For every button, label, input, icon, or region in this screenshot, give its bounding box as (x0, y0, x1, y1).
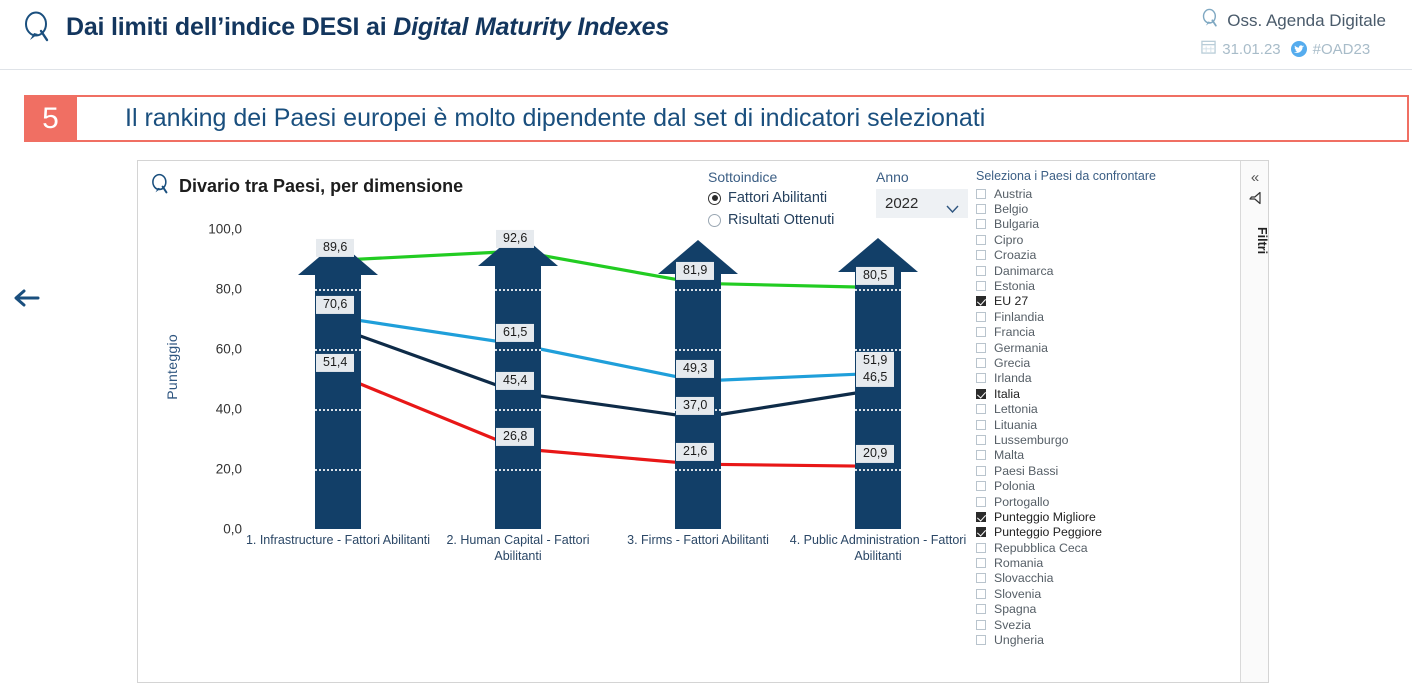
radio-button-icon[interactable] (708, 214, 721, 227)
country-label: Croazia (994, 248, 1036, 262)
checkbox-icon[interactable] (976, 620, 986, 630)
subindex-radio-group: Fattori AbilitantiRisultati Ottenuti (708, 188, 868, 230)
page-title-main: Dai limiti dell’indice DESI ai (66, 13, 393, 41)
country-label: Danimarca (994, 264, 1053, 278)
country-label: Punteggio Peggiore (994, 525, 1102, 539)
chevron-down-icon (946, 200, 959, 208)
column-gridline (495, 349, 541, 351)
page-title-italic: Digital Maturity Indexes (393, 13, 669, 41)
country-label: Italia (994, 387, 1020, 401)
column-gridline (855, 409, 901, 411)
magnifier-speech-icon (150, 173, 170, 200)
dashboard-body: Divario tra Paesi, per dimensione Sottoi… (138, 161, 1242, 682)
checkbox-icon[interactable] (976, 589, 986, 599)
x-axis-category-label: 4. Public Administration - Fattori Abili… (783, 533, 973, 564)
country-label: Estonia (994, 279, 1035, 293)
country-checkbox-item[interactable]: Slovacchia (976, 571, 1206, 586)
chart-plot: Punteggio 0,020,040,060,080,0100,0 89,69… (138, 229, 968, 549)
country-label: Spagna (994, 602, 1036, 616)
checkbox-icon[interactable] (976, 497, 986, 507)
data-value-label: 20,9 (856, 445, 894, 463)
country-label: Finlandia (994, 310, 1044, 324)
country-checkbox-item[interactable]: Spagna (976, 602, 1206, 617)
country-checkbox-item[interactable]: Punteggio Peggiore (976, 525, 1206, 540)
data-value-label: 49,3 (676, 360, 714, 378)
country-label: Germania (994, 341, 1048, 355)
column-gridline (855, 469, 901, 471)
country-label: Slovacchia (994, 571, 1053, 585)
checkbox-icon[interactable] (976, 604, 986, 614)
country-checkbox-item[interactable]: Irlanda (976, 371, 1206, 386)
hashtag-block: #OAD23 (1291, 41, 1371, 58)
checkbox-icon[interactable] (976, 189, 986, 199)
country-checkbox-item[interactable]: Malta (976, 448, 1206, 463)
y-axis-tick: 60,0 (180, 342, 242, 357)
country-label: Lituania (994, 418, 1037, 432)
x-axis-category-label: 1. Infrastructure - Fattori Abilitanti (243, 533, 433, 549)
column-gridline (675, 469, 721, 471)
filter-rail-label[interactable]: Filtri (1241, 211, 1269, 271)
country-label: Austria (994, 187, 1032, 201)
checkbox-icon[interactable] (976, 281, 986, 291)
brand-label: Oss. Agenda Digitale (1227, 11, 1386, 31)
country-checkbox-item[interactable]: Punteggio Migliore (976, 509, 1206, 524)
subindex-radio-label: Risultati Ottenuti (728, 212, 834, 228)
checkbox-icon[interactable] (976, 358, 986, 368)
country-checkbox-item[interactable]: Lussemburgo (976, 432, 1206, 447)
chart-title: Divario tra Paesi, per dimensione (179, 176, 463, 197)
country-checkbox-item[interactable]: Polonia (976, 478, 1206, 493)
hashtag-label: #OAD23 (1313, 41, 1371, 58)
header-right: Oss. Agenda Digitale 31.01.23 (1201, 8, 1386, 59)
column-gridline (495, 289, 541, 291)
calendar-icon (1201, 39, 1216, 59)
section-banner: 5 Il ranking dei Paesi europei è molto d… (24, 95, 1409, 142)
checkbox-icon[interactable] (976, 558, 986, 568)
year-select[interactable]: 2022 (876, 189, 968, 218)
country-checkbox-item[interactable]: Grecia (976, 355, 1206, 370)
subindex-control: Sottoindice Fattori AbilitantiRisultati … (708, 169, 868, 230)
series-line (338, 317, 878, 381)
country-label: Punteggio Migliore (994, 510, 1096, 524)
checkbox-icon[interactable] (976, 404, 986, 414)
checkbox-icon[interactable] (976, 266, 986, 276)
year-value: 2022 (885, 195, 918, 212)
arrow-column[interactable] (298, 229, 378, 529)
country-label: Svezia (994, 618, 1031, 632)
subindex-radio-label: Fattori Abilitanti (728, 190, 827, 206)
y-axis-tick: 40,0 (180, 402, 242, 417)
country-label: Lettonia (994, 402, 1038, 416)
column-gridline (495, 469, 541, 471)
country-label: EU 27 (994, 294, 1028, 308)
column-gridline (855, 289, 901, 291)
checkbox-icon[interactable] (976, 250, 986, 260)
header-left: Dai limiti dell’indice DESI ai Digital M… (22, 10, 669, 44)
series-line (338, 328, 878, 418)
data-value-label: 45,4 (496, 372, 534, 390)
page-header: Dai limiti dell’indice DESI ai Digital M… (0, 0, 1412, 70)
country-label: Irlanda (994, 371, 1032, 385)
checkbox-checked-icon[interactable] (976, 527, 986, 537)
country-label: Cipro (994, 233, 1023, 247)
data-value-label: 21,6 (676, 443, 714, 461)
country-label: Bulgaria (994, 217, 1039, 231)
country-label: Paesi Bassi (994, 464, 1058, 478)
column-gridline (315, 349, 361, 351)
data-value-label: 80,5 (856, 266, 894, 284)
country-checkbox-item[interactable]: Belgio (976, 201, 1206, 216)
magnifier-speech-icon (22, 10, 52, 44)
country-checkbox-item[interactable]: Slovenia (976, 586, 1206, 601)
subindex-label: Sottoindice (708, 169, 868, 185)
brand-block: Oss. Agenda Digitale (1201, 8, 1386, 33)
arrow-left-icon[interactable] (8, 280, 44, 316)
country-checkbox-item[interactable]: Romania (976, 555, 1206, 570)
checkbox-checked-icon[interactable] (976, 512, 986, 522)
country-label: Francia (994, 325, 1035, 339)
year-control: Anno 2022 (876, 169, 976, 218)
section-title: Il ranking dei Paesi europei è molto dip… (125, 104, 985, 133)
subindex-radio-1[interactable]: Risultati Ottenuti (708, 210, 868, 230)
country-checkbox-item[interactable]: Lituania (976, 417, 1206, 432)
country-label: Romania (994, 556, 1043, 570)
column-gridline (315, 289, 361, 291)
checkbox-icon[interactable] (976, 204, 986, 214)
checkbox-icon[interactable] (976, 466, 986, 476)
country-label: Slovenia (994, 587, 1041, 601)
country-label: Portogallo (994, 495, 1049, 509)
series-line (338, 375, 878, 467)
checkbox-icon[interactable] (976, 420, 986, 430)
data-value-label: 37,0 (676, 397, 714, 415)
column-gridline (315, 409, 361, 411)
country-checkbox-item[interactable]: EU 27 (976, 294, 1206, 309)
country-checkbox-item[interactable]: Ungheria (976, 632, 1206, 647)
checkbox-icon[interactable] (976, 543, 986, 553)
country-label: Belgio (994, 202, 1028, 216)
section-number: 5 (24, 95, 77, 142)
country-checkbox-item[interactable]: Danimarca (976, 263, 1206, 278)
country-checkbox-item[interactable]: Portogallo (976, 494, 1206, 509)
data-value-label: 51,4 (316, 354, 354, 372)
country-checkbox-item[interactable]: Austria (976, 186, 1206, 201)
data-value-label: 70,6 (316, 296, 354, 314)
column-shaft (855, 272, 901, 529)
date-block: 31.01.23 (1201, 39, 1280, 59)
data-value-label: 26,8 (496, 428, 534, 446)
country-checkbox-list: AustriaBelgioBulgariaCiproCroaziaDanimar… (976, 186, 1206, 648)
date-label: 31.01.23 (1222, 41, 1280, 58)
country-checkbox-item[interactable]: Repubblica Ceca (976, 540, 1206, 555)
checkbox-icon[interactable] (976, 373, 986, 383)
country-checkbox-item[interactable]: Cipro (976, 232, 1206, 247)
checkbox-checked-icon[interactable] (976, 296, 986, 306)
series-line (338, 251, 878, 287)
dashboard-panel: Divario tra Paesi, per dimensione Sottoi… (137, 160, 1269, 683)
country-checkbox-item[interactable]: Svezia (976, 617, 1206, 632)
chart-title-block: Divario tra Paesi, per dimensione (150, 173, 463, 200)
checkbox-icon[interactable] (976, 235, 986, 245)
column-gridline (675, 349, 721, 351)
y-axis-tick: 100,0 (180, 222, 242, 237)
checkbox-icon[interactable] (976, 327, 986, 337)
page-title: Dai limiti dell’indice DESI ai Digital M… (66, 13, 669, 42)
checkbox-checked-icon[interactable] (976, 389, 986, 399)
x-axis-category-label: 3. Firms - Fattori Abilitanti (603, 533, 793, 549)
checkbox-icon[interactable] (976, 219, 986, 229)
country-label: Malta (994, 448, 1024, 462)
country-checkbox-item[interactable]: Lettonia (976, 401, 1206, 416)
y-axis-tick: 0,0 (180, 522, 242, 537)
country-checkbox-item[interactable]: Finlandia (976, 309, 1206, 324)
column-gridline (495, 409, 541, 411)
data-value-label: 81,9 (676, 262, 714, 280)
checkbox-icon[interactable] (976, 450, 986, 460)
column-gridline (675, 289, 721, 291)
year-label: Anno (876, 169, 976, 185)
y-axis-tick: 80,0 (180, 282, 242, 297)
plot-area: 89,692,681,980,570,661,549,351,945,437,0… (248, 229, 968, 529)
country-checkbox-item[interactable]: Paesi Bassi (976, 463, 1206, 478)
data-value-label: 92,6 (496, 230, 534, 248)
country-label: Ungheria (994, 633, 1044, 647)
column-gridline (315, 469, 361, 471)
country-checkbox-item[interactable]: Italia (976, 386, 1206, 401)
country-filter-label: Seleziona i Paesi da confrontare (976, 169, 1206, 183)
column-shaft (495, 266, 541, 529)
magnifier-speech-icon (1201, 8, 1219, 33)
twitter-icon (1291, 41, 1307, 57)
slide-page: Dai limiti dell’indice DESI ai Digital M… (0, 0, 1412, 683)
country-filter: Seleziona i Paesi da confrontare Austria… (976, 169, 1206, 648)
country-checkbox-item[interactable]: Francia (976, 325, 1206, 340)
data-value-label: 89,6 (316, 239, 354, 257)
header-meta: 31.01.23 #OAD23 (1201, 39, 1386, 59)
country-checkbox-item[interactable]: Estonia (976, 278, 1206, 293)
subindex-radio-0[interactable]: Fattori Abilitanti (708, 188, 868, 208)
country-label: Repubblica Ceca (994, 541, 1088, 555)
filter-rail: « Filtri (1240, 161, 1268, 682)
country-label: Lussemburgo (994, 433, 1069, 447)
checkbox-icon[interactable] (976, 435, 986, 445)
country-checkbox-item[interactable]: Croazia (976, 248, 1206, 263)
checkbox-icon[interactable] (976, 481, 986, 491)
country-checkbox-item[interactable]: Germania (976, 340, 1206, 355)
x-axis-category-label: 2. Human Capital - Fattori Abilitanti (423, 533, 613, 564)
data-value-label: 46,5 (856, 368, 894, 386)
country-checkbox-item[interactable]: Bulgaria (976, 217, 1206, 232)
column-gridline (855, 349, 901, 351)
checkbox-icon[interactable] (976, 312, 986, 322)
section-title-bar: Il ranking dei Paesi europei è molto dip… (77, 95, 1409, 142)
chevron-double-left-icon[interactable]: « (1241, 169, 1269, 186)
checkbox-icon[interactable] (976, 573, 986, 583)
checkbox-icon[interactable] (976, 635, 986, 645)
y-axis-tick: 20,0 (180, 462, 242, 477)
funnel-icon[interactable] (1241, 191, 1269, 205)
checkbox-icon[interactable] (976, 343, 986, 353)
data-value-label: 61,5 (496, 323, 534, 341)
country-label: Polonia (994, 479, 1035, 493)
y-axis-label: Punteggio (164, 334, 180, 400)
country-label: Grecia (994, 356, 1030, 370)
radio-button-icon[interactable] (708, 192, 721, 205)
